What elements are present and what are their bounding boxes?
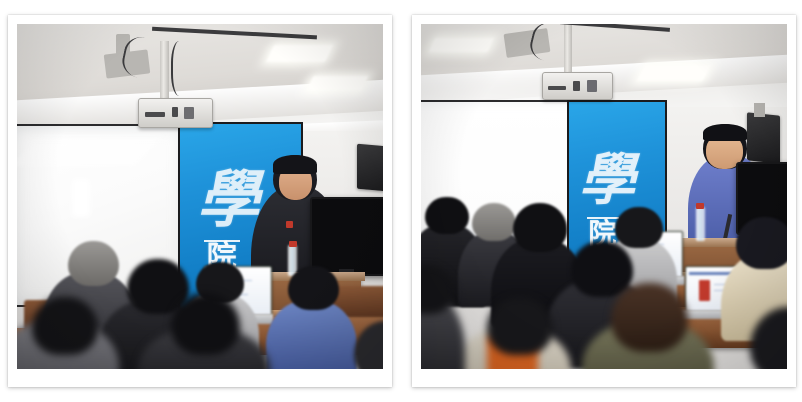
photo-right[interactable]: 學 院 [421, 24, 787, 369]
photo-left[interactable]: 學 院 [17, 24, 383, 369]
photo-vignette [17, 24, 383, 369]
photo-frame-left[interactable]: 學 院 [8, 15, 392, 387]
photo-vignette [421, 24, 787, 369]
photo-frame-right[interactable]: 學 院 [412, 15, 796, 387]
photo-gallery: 學 院 [0, 0, 802, 402]
